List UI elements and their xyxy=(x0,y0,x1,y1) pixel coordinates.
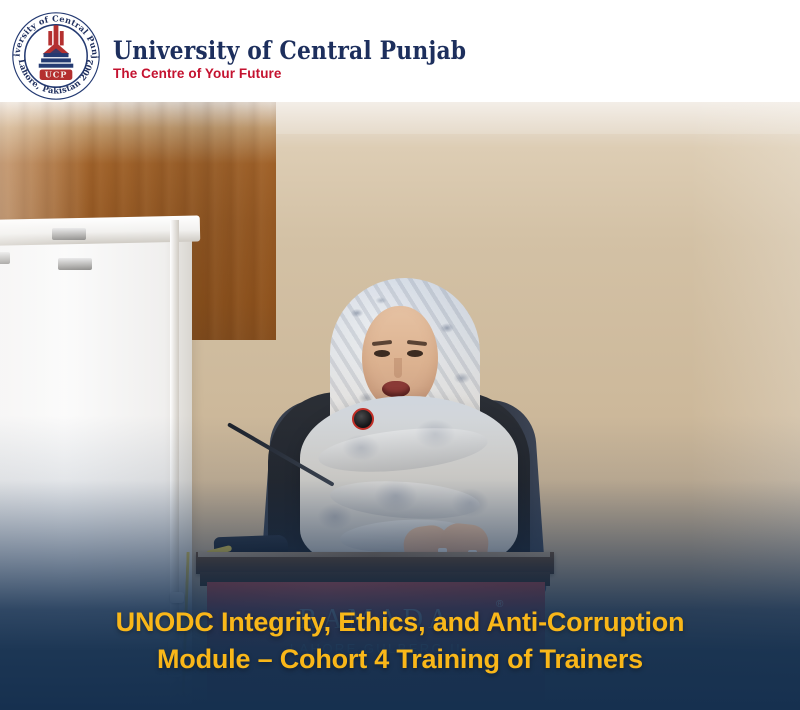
nose xyxy=(394,358,402,378)
event-poster: Ramada ® LAHORE GULBERG II UNODC Integri… xyxy=(0,0,800,710)
caption-line-1: UNODC Integrity, Ethics, and Anti-Corrup… xyxy=(0,604,800,641)
eye-left xyxy=(374,350,390,357)
mouth xyxy=(382,381,410,397)
university-name: University of Central Punjab xyxy=(113,38,466,64)
svg-text:UCP: UCP xyxy=(45,70,68,80)
eye-right xyxy=(407,350,423,357)
university-tagline: The Centre of Your Future xyxy=(113,66,477,82)
brand-lockup: University of Central Punjab The Centre … xyxy=(113,38,477,82)
event-caption: UNODC Integrity, Ethics, and Anti-Corrup… xyxy=(0,604,800,678)
ucp-crest-logo: University of Central Punjab Lahore, Pak… xyxy=(8,8,104,104)
caption-line-2: Module – Cohort 4 Training of Trainers xyxy=(0,641,800,678)
